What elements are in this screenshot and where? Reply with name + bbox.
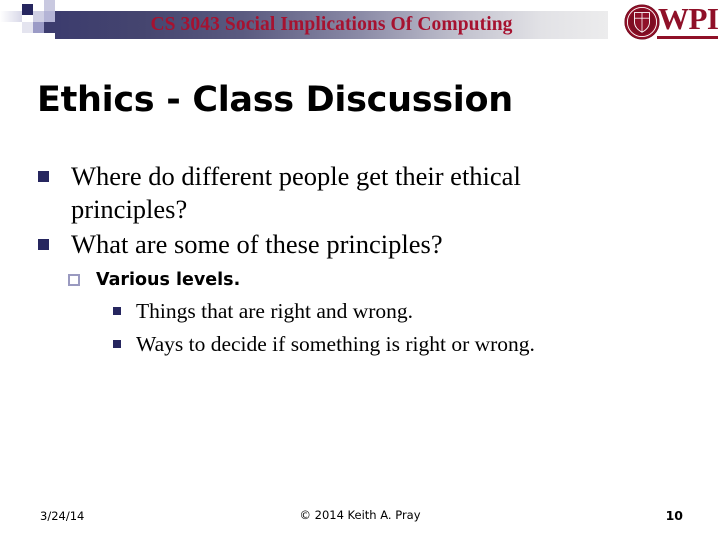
- filled-square-bullet-icon: [38, 239, 49, 250]
- deco-square-2: [44, 0, 55, 11]
- header-bar: CS 3043 Social Implications Of Computing: [55, 11, 608, 39]
- bullet-item-level3: Things that are right and wrong.: [0, 297, 720, 325]
- deco-square-1: [22, 4, 33, 15]
- hollow-square-bullet-icon: [68, 274, 80, 286]
- filled-square-bullet-icon: [38, 171, 49, 182]
- deco-square-5: [33, 22, 44, 33]
- bullet-text: Things that are right and wrong.: [136, 299, 413, 323]
- slide-footer: 3/24/14 © 2014 Keith A. Pray 10: [0, 505, 720, 529]
- wpi-wordmark: WPI: [658, 2, 718, 36]
- bullet-item-level1: Where do different people get their ethi…: [0, 160, 720, 226]
- deco-square-6: [22, 22, 33, 33]
- wpi-logo[interactable]: WPI: [624, 2, 718, 44]
- footer-page-number: 10: [666, 508, 683, 523]
- small-filled-square-bullet-icon: [113, 307, 121, 315]
- deco-square-gradient-left: [0, 11, 22, 22]
- page-title: Ethics - Class Discussion: [37, 79, 677, 121]
- deco-square-7: [44, 22, 55, 33]
- footer-copyright: © 2014 Keith A. Pray: [0, 508, 720, 522]
- bullet-item-level2: Various levels.: [0, 268, 720, 292]
- deco-square-4: [44, 11, 55, 22]
- wpi-underline: [657, 36, 718, 39]
- slide-header: CS 3043 Social Implications Of Computing…: [0, 0, 720, 60]
- bullet-text: Where do different people get their ethi…: [71, 161, 521, 224]
- bullet-text: What are some of these principles?: [71, 229, 443, 259]
- deco-square-3: [33, 11, 44, 22]
- wpi-seal-icon: [624, 4, 660, 40]
- course-title: CS 3043 Social Implications Of Computing: [55, 11, 608, 39]
- bullet-text: Various levels.: [96, 270, 240, 290]
- slide-body: Where do different people get their ethi…: [0, 160, 720, 360]
- slide: CS 3043 Social Implications Of Computing…: [0, 0, 720, 540]
- bullet-item-level1: What are some of these principles?: [0, 228, 720, 261]
- bullet-item-level3: Ways to decide if something is right or …: [0, 330, 720, 358]
- small-filled-square-bullet-icon: [113, 340, 121, 348]
- bullet-text: Ways to decide if something is right or …: [136, 332, 535, 356]
